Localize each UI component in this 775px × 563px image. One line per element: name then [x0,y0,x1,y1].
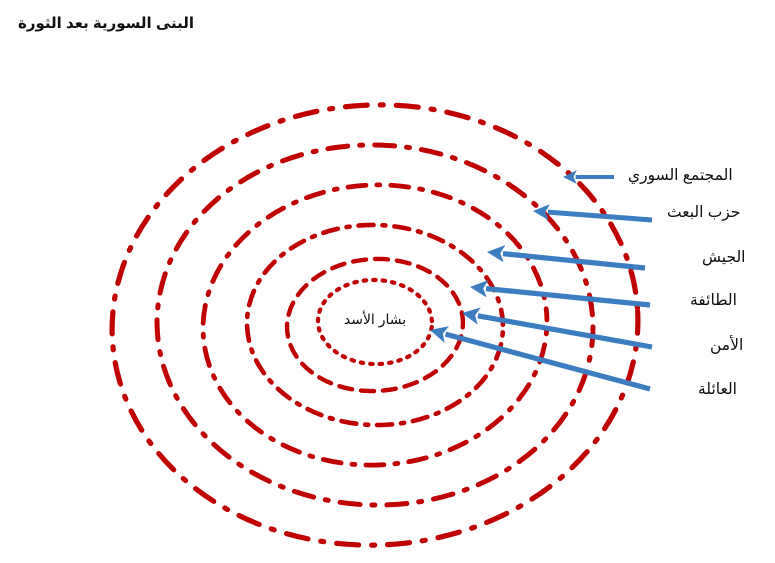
arrow-army [487,245,645,268]
page-root: البنى السورية بعد الثورة المجتمع السوريح… [0,0,775,563]
center-label-bashar-al-assad: بشار الأسد [315,311,435,328]
ring-label-5: العائلة [698,380,737,399]
ring-label-0: المجتمع السوري [628,166,733,185]
concentric-rings-diagram [0,0,775,563]
ring-label-3: الطائفة [690,291,737,310]
arrow-sect-head [470,280,488,297]
arrow-baath-shaft [548,212,652,220]
ring-label-2: الجيش [702,248,745,267]
arrow-security [462,308,652,347]
arrow-army-head [487,245,505,262]
arrow-sect-shaft [486,289,650,305]
ring-label-1: حزب البعث [667,203,740,222]
ring-label-4: الأمن [710,336,743,355]
